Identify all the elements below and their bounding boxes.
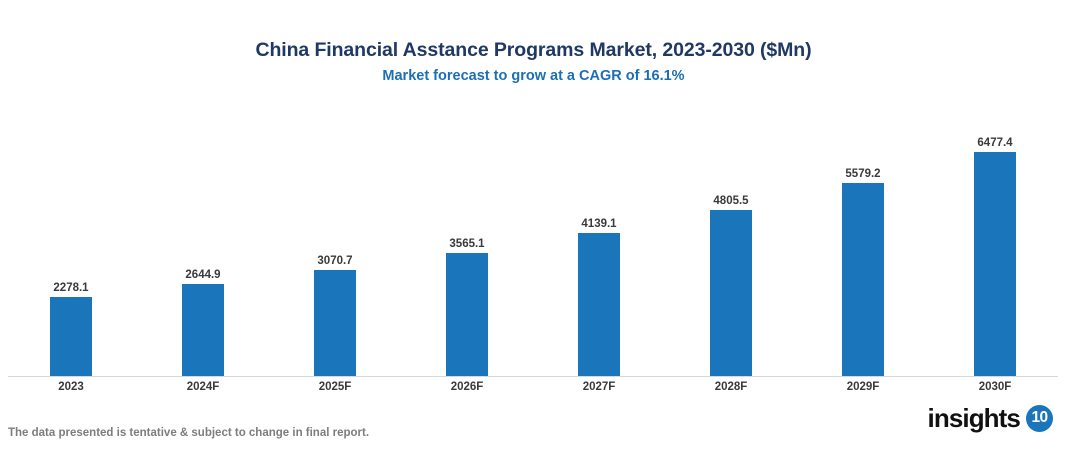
bar-rect[interactable]: [578, 233, 620, 376]
bar-rect[interactable]: [314, 270, 356, 376]
x-axis-tick-label: 2030F: [929, 381, 1061, 393]
bar-rect[interactable]: [974, 152, 1016, 376]
bar-value-label: 3565.1: [401, 238, 533, 250]
bar-rect[interactable]: [842, 183, 884, 376]
brand-badge-icon: 10: [1026, 405, 1053, 432]
bar-value-label: 4805.5: [665, 195, 797, 207]
x-axis-tick-label: 2024F: [137, 381, 269, 393]
bar-value-label: 4139.1: [533, 218, 665, 230]
bar-rect[interactable]: [446, 253, 488, 376]
bar-group: 5579.2 2029F: [797, 0, 929, 454]
bar-value-label: 5579.2: [797, 168, 929, 180]
bar-rect[interactable]: [710, 210, 752, 376]
x-axis-tick-label: 2026F: [401, 381, 533, 393]
bar-chart-plot: 2278.1 2023 2644.9 2024F 3070.7 2025F 35…: [0, 0, 1067, 454]
chart-card: China Financial Asstance Programs Market…: [0, 0, 1067, 454]
x-axis-tick-label: 2028F: [665, 381, 797, 393]
bar-group: 6477.4 2030F: [929, 0, 1061, 454]
bar-group: 4805.5 2028F: [665, 0, 797, 454]
bar-rect[interactable]: [50, 297, 92, 376]
bar-value-label: 3070.7: [269, 255, 401, 267]
bar-group: 2278.1 2023: [5, 0, 137, 454]
bar-group: 4139.1 2027F: [533, 0, 665, 454]
x-axis-tick-label: 2025F: [269, 381, 401, 393]
bar-value-label: 6477.4: [929, 137, 1061, 149]
brand-wordmark: insights: [928, 404, 1020, 432]
bar-group: 2644.9 2024F: [137, 0, 269, 454]
disclaimer-text: The data presented is tentative & subjec…: [8, 427, 369, 439]
x-axis-tick-label: 2027F: [533, 381, 665, 393]
bar-rect[interactable]: [182, 284, 224, 376]
insights10-logo: insights 10: [928, 404, 1053, 432]
x-axis-tick-label: 2023: [5, 381, 137, 393]
bar-group: 3070.7 2025F: [269, 0, 401, 454]
bar-value-label: 2644.9: [137, 269, 269, 281]
bar-group: 3565.1 2026F: [401, 0, 533, 454]
bar-value-label: 2278.1: [5, 282, 137, 294]
x-axis-tick-label: 2029F: [797, 381, 929, 393]
